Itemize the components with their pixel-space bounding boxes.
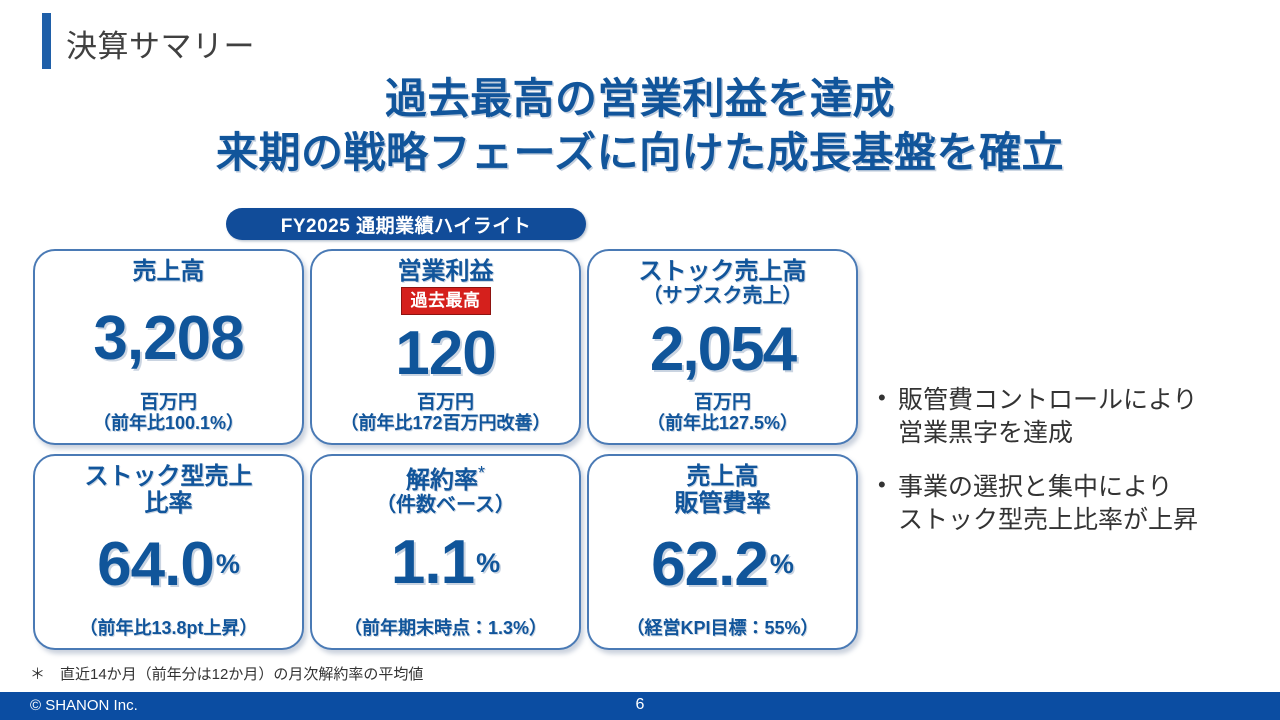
kpi-note: （前年期末時点：1.3%） xyxy=(344,619,547,648)
kpi-value-suffix: % xyxy=(770,551,794,578)
kpi-value-row: 2,054 xyxy=(650,307,795,393)
kpi-value-row: 3,208 xyxy=(93,285,243,393)
kpi-card-subtitle: （サブスク売上） xyxy=(643,285,803,307)
kpi-value-suffix: % xyxy=(476,550,500,577)
kpi-card-stock-revenue: ストック売上高 （サブスク売上） 2,054 百万円 （前年比127.5%） xyxy=(587,249,858,445)
kpi-card-grid: 売上高 3,208 百万円 （前年比100.1%） 営業利益 過去最高 120 … xyxy=(33,249,858,650)
kpi-card-subtitle: （件数ベース） xyxy=(376,494,515,516)
kpi-value: 64.0 xyxy=(97,534,214,596)
kpi-card-churn-rate: 解約率* （件数ベース） 1.1% （前年期末時点：1.3%） xyxy=(310,454,581,650)
kpi-card-title: 解約率* xyxy=(406,463,485,494)
kpi-note: （前年比127.5%） xyxy=(647,414,798,443)
page-title: 過去最高の営業利益を達成 来期の戦略フェーズに向けた成長基盤を確立 xyxy=(0,72,1280,180)
kpi-card-operating-profit: 営業利益 過去最高 120 百万円 （前年比172百万円改善） xyxy=(310,249,581,445)
kpi-value: 3,208 xyxy=(93,308,243,370)
kpi-note: （前年比172百万円改善） xyxy=(340,414,550,443)
highlight-bullet-list: • 販管費コントロールにより 営業黒字を達成 • 事業の選択と集中により ストッ… xyxy=(878,384,1270,558)
kpi-value-row: 1.1% xyxy=(391,532,500,594)
kpi-unit: 百万円 xyxy=(694,393,751,414)
kpi-note: （経営KPI目標：55%） xyxy=(626,619,818,648)
kpi-unit: 百万円 xyxy=(417,393,474,414)
section-badge: FY2025 通期業績ハイライト xyxy=(226,208,586,240)
slide-section-label: 決算サマリー xyxy=(66,21,255,66)
page-title-line-2: 来期の戦略フェーズに向けた成長基盤を確立 xyxy=(0,126,1280,180)
list-item-text: 事業の選択と集中により ストック型売上比率が上昇 xyxy=(898,471,1270,536)
kpi-card-title: 売上高 xyxy=(133,258,205,285)
kpi-value-row: 120 xyxy=(395,315,495,393)
kpi-value-row: 62.2% xyxy=(651,534,794,596)
header-accent-bar xyxy=(42,13,51,69)
kpi-unit: 百万円 xyxy=(140,393,197,414)
footnote-marker-asterisk: * xyxy=(478,463,485,483)
kpi-card-revenue: 売上高 3,208 百万円 （前年比100.1%） xyxy=(33,249,304,445)
list-item-text: 販管費コントロールにより 営業黒字を達成 xyxy=(898,384,1270,449)
kpi-value-row: 64.0% xyxy=(97,534,240,596)
footnote-text: ＊ 直近14か月（前年分は12か月）の月次解約率の平均値 xyxy=(30,663,423,684)
slide-canvas: 決算サマリー 過去最高の営業利益を達成 来期の戦略フェーズに向けた成長基盤を確立… xyxy=(0,0,1280,720)
bullet-dot-icon: • xyxy=(878,471,898,500)
list-item: • 販管費コントロールにより 営業黒字を達成 xyxy=(878,384,1270,449)
kpi-card-sga-ratio: 売上高 販管費率 62.2% （経営KPI目標：55%） xyxy=(587,454,858,650)
kpi-card-title: ストック売上高 xyxy=(639,258,807,285)
list-item: • 事業の選択と集中により ストック型売上比率が上昇 xyxy=(878,471,1270,536)
kpi-value: 2,054 xyxy=(650,319,795,381)
kpi-card-title: ストック型売上 比率 xyxy=(85,463,253,518)
kpi-note: （前年比100.1%） xyxy=(93,414,244,443)
kpi-note: （前年比13.8pt上昇） xyxy=(79,619,257,648)
footer-bar: © SHANON Inc. 6 xyxy=(0,690,1280,720)
kpi-card-title: 営業利益 xyxy=(398,258,494,285)
bullet-dot-icon: • xyxy=(878,384,898,413)
kpi-value: 1.1 xyxy=(391,532,474,594)
kpi-value: 120 xyxy=(395,323,495,385)
kpi-card-title-text: 解約率 xyxy=(406,467,478,494)
kpi-card-stock-ratio: ストック型売上 比率 64.0% （前年比13.8pt上昇） xyxy=(33,454,304,650)
page-number: 6 xyxy=(0,696,1280,714)
kpi-card-title: 売上高 販管費率 xyxy=(675,463,771,518)
kpi-value: 62.2 xyxy=(651,534,768,596)
record-high-badge: 過去最高 xyxy=(401,287,491,315)
page-title-line-1: 過去最高の営業利益を達成 xyxy=(0,72,1280,126)
kpi-value-suffix: % xyxy=(216,551,240,578)
